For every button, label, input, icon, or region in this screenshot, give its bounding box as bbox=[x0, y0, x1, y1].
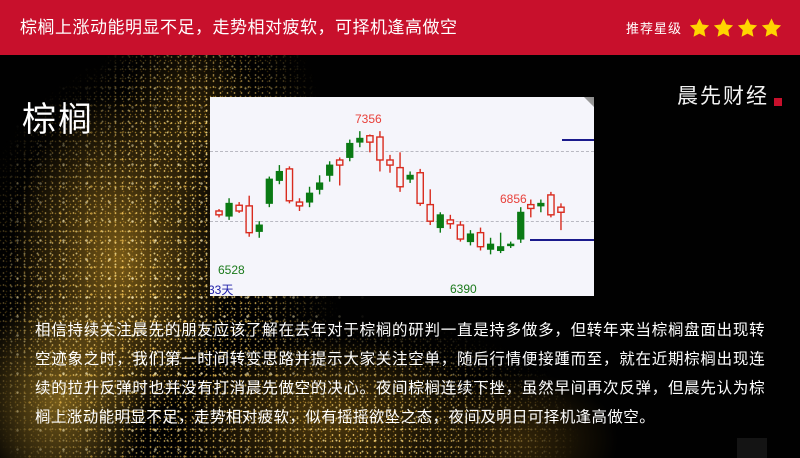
candle bbox=[447, 215, 453, 229]
candle bbox=[407, 171, 413, 182]
candle bbox=[498, 233, 504, 253]
candle bbox=[216, 209, 222, 217]
candle bbox=[538, 200, 544, 213]
star-rating[interactable] bbox=[689, 17, 782, 38]
candle bbox=[296, 198, 302, 211]
candle bbox=[387, 155, 393, 173]
brand-dot-icon bbox=[774, 98, 782, 106]
candle bbox=[316, 175, 322, 194]
candle bbox=[347, 140, 353, 162]
brand-logo: 晨先财经 bbox=[677, 80, 782, 110]
star-icon[interactable] bbox=[761, 17, 782, 38]
candle bbox=[226, 198, 232, 220]
candle bbox=[246, 196, 252, 237]
chart-low-label: 6390 bbox=[450, 282, 477, 296]
candle bbox=[417, 169, 423, 206]
page-title: 棕榈上涨动能明显不足，走势相对疲软，可择机逢高做空 bbox=[20, 0, 458, 55]
candle bbox=[548, 192, 554, 218]
candle bbox=[337, 157, 343, 185]
candle bbox=[467, 230, 473, 245]
candles-layer bbox=[210, 97, 594, 296]
candle bbox=[266, 177, 272, 208]
star-icon[interactable] bbox=[737, 17, 758, 38]
candle bbox=[256, 221, 262, 238]
candle bbox=[477, 228, 483, 251]
candlestick-chart[interactable]: 7356 6528 6390 6856 33天 bbox=[210, 97, 594, 296]
candle bbox=[286, 166, 292, 203]
price-marker-line-upper bbox=[562, 139, 594, 141]
candle bbox=[236, 202, 242, 213]
candle bbox=[427, 189, 433, 225]
candle bbox=[327, 161, 333, 181]
brand-name-text: 晨先财经 bbox=[677, 80, 769, 110]
commodity-name-logo: 棕榈 bbox=[22, 92, 94, 141]
header-bar: 棕榈上涨动能明显不足，走势相对疲软，可择机逢高做空 推荐星级 bbox=[0, 0, 800, 55]
candle bbox=[508, 242, 514, 248]
candle bbox=[457, 221, 463, 241]
candle bbox=[377, 131, 383, 171]
candle bbox=[528, 200, 534, 218]
price-marker-line-lower bbox=[530, 239, 594, 241]
candle bbox=[558, 203, 564, 230]
star-icon[interactable] bbox=[713, 17, 734, 38]
candle bbox=[518, 207, 524, 243]
candle bbox=[357, 131, 363, 147]
poster-root: 棕榈上涨动能明显不足，走势相对疲软，可择机逢高做空 推荐星级 棕榈 晨先财经 7… bbox=[0, 0, 800, 458]
article-paragraph: 相信持续关注晨先的朋友应该了解在去年对于棕榈的研判一直是持多做多，但转年来当棕榈… bbox=[35, 316, 765, 432]
candle bbox=[397, 152, 403, 192]
candle bbox=[276, 165, 282, 184]
candle bbox=[367, 134, 373, 152]
watermark-block bbox=[737, 438, 767, 458]
chart-right-label: 6856 bbox=[500, 192, 527, 206]
candle bbox=[437, 212, 443, 232]
candle bbox=[487, 238, 493, 255]
rating-group: 推荐星级 bbox=[626, 0, 782, 55]
chart-period-label: 33天 bbox=[210, 281, 233, 296]
chart-left-low-label: 6528 bbox=[218, 263, 245, 277]
candle bbox=[306, 187, 312, 207]
chart-resize-handle-icon[interactable] bbox=[583, 97, 594, 108]
chart-high-label: 7356 bbox=[355, 112, 382, 126]
star-icon[interactable] bbox=[689, 17, 710, 38]
rating-label: 推荐星级 bbox=[626, 18, 682, 37]
